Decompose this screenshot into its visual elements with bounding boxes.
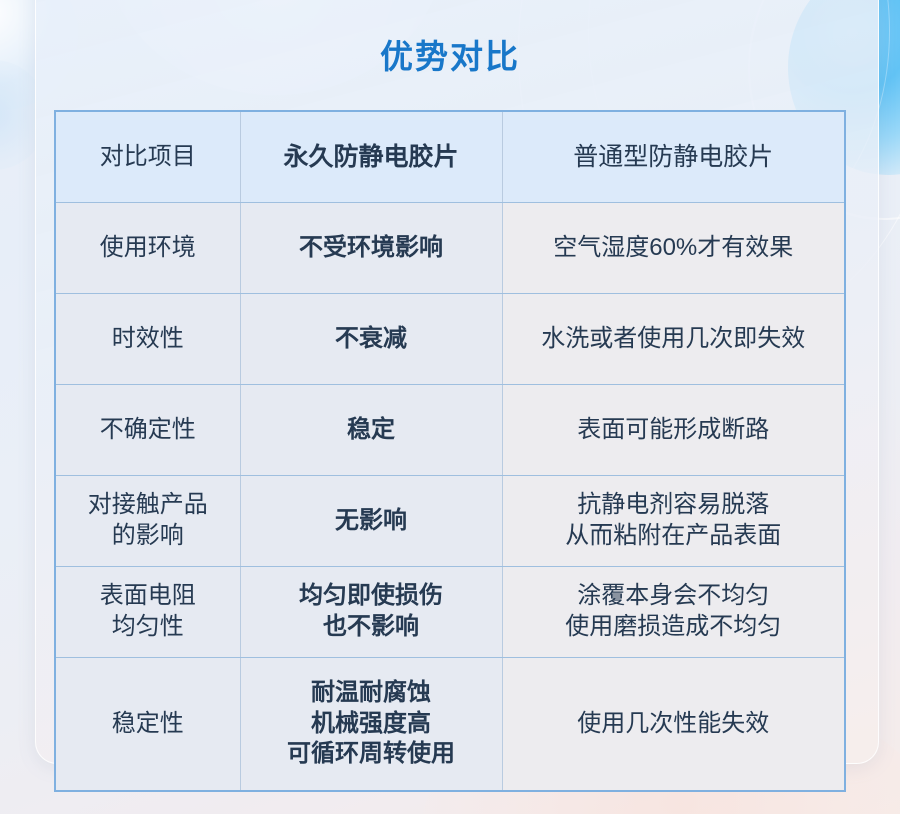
table-row: 稳定性 耐温耐腐蚀 机械强度高 可循环周转使用 使用几次性能失效 [56, 658, 844, 791]
cell-item: 不确定性 [56, 385, 240, 476]
table-row: 不确定性 稳定 表面可能形成断路 [56, 385, 844, 476]
cell-ordinary: 空气湿度60%才有效果 [502, 203, 844, 294]
cell-ordinary: 水洗或者使用几次即失效 [502, 294, 844, 385]
cell-line: 空气湿度60%才有效果 [507, 233, 841, 264]
comparison-table-container: 对比项目 永久防静电胶片 普通型防静电胶片 使用环境 不受环境影响 空气湿度60… [54, 110, 846, 792]
cell-item: 使用环境 [56, 203, 240, 294]
table-header-row: 对比项目 永久防静电胶片 普通型防静电胶片 [56, 112, 844, 203]
cell-line: 不受环境影响 [245, 233, 498, 264]
page-root: 优势对比 对比项目 永久防静电胶片 普通型防静电胶片 使用环境 不受环境影响 [0, 0, 900, 814]
table-row: 时效性 不衰减 水洗或者使用几次即失效 [56, 294, 844, 385]
cell-line: 抗静电剂容易脱落 [507, 490, 841, 521]
cell-line: 稳定性 [60, 709, 236, 740]
cell-ordinary: 表面可能形成断路 [502, 385, 844, 476]
cell-item: 表面电阻 均匀性 [56, 567, 240, 658]
cell-line: 无影响 [245, 506, 498, 537]
cell-line: 耐温耐腐蚀 [245, 678, 498, 709]
cell-ordinary: 涂覆本身会不均匀 使用磨损造成不均匀 [502, 567, 844, 658]
cell-ordinary: 抗静电剂容易脱落 从而粘附在产品表面 [502, 476, 844, 567]
cell-line: 涂覆本身会不均匀 [507, 581, 841, 612]
cell-line: 不衰减 [245, 324, 498, 355]
cell-line: 表面电阻 [60, 581, 236, 612]
header-cell-item: 对比项目 [56, 112, 240, 203]
table-row: 表面电阻 均匀性 均匀即使损伤 也不影响 涂覆本身会不均匀 使用磨损造成不均匀 [56, 567, 844, 658]
cell-line: 水洗或者使用几次即失效 [507, 324, 841, 355]
cell-permanent: 稳定 [240, 385, 502, 476]
cell-line: 不确定性 [60, 415, 236, 446]
cell-item: 稳定性 [56, 658, 240, 791]
cell-line: 从而粘附在产品表面 [507, 521, 841, 552]
cell-item: 对接触产品 的影响 [56, 476, 240, 567]
cell-line: 均匀即使损伤 [245, 581, 498, 612]
cell-ordinary: 使用几次性能失效 [502, 658, 844, 791]
cell-permanent: 无影响 [240, 476, 502, 567]
cell-line: 对接触产品 [60, 490, 236, 521]
cell-line: 均匀性 [60, 612, 236, 643]
header-cell-ordinary: 普通型防静电胶片 [502, 112, 844, 203]
cell-line: 的影响 [60, 521, 236, 552]
cell-permanent: 不衰减 [240, 294, 502, 385]
table-row: 对接触产品 的影响 无影响 抗静电剂容易脱落 从而粘附在产品表面 [56, 476, 844, 567]
cell-line: 稳定 [245, 415, 498, 446]
cell-line: 表面可能形成断路 [507, 415, 841, 446]
cell-line: 使用磨损造成不均匀 [507, 612, 841, 643]
cell-permanent: 均匀即使损伤 也不影响 [240, 567, 502, 658]
comparison-table: 对比项目 永久防静电胶片 普通型防静电胶片 使用环境 不受环境影响 空气湿度60… [56, 112, 844, 790]
table-row: 使用环境 不受环境影响 空气湿度60%才有效果 [56, 203, 844, 294]
page-title: 优势对比 [0, 30, 900, 78]
cell-line: 也不影响 [245, 612, 498, 643]
cell-permanent: 不受环境影响 [240, 203, 502, 294]
header-cell-permanent: 永久防静电胶片 [240, 112, 502, 203]
cell-permanent: 耐温耐腐蚀 机械强度高 可循环周转使用 [240, 658, 502, 791]
cell-item: 时效性 [56, 294, 240, 385]
cell-line: 时效性 [60, 324, 236, 355]
cell-line: 使用几次性能失效 [507, 709, 841, 740]
cell-line: 使用环境 [60, 233, 236, 264]
cell-line: 可循环周转使用 [245, 739, 498, 770]
cell-line: 机械强度高 [245, 709, 498, 740]
